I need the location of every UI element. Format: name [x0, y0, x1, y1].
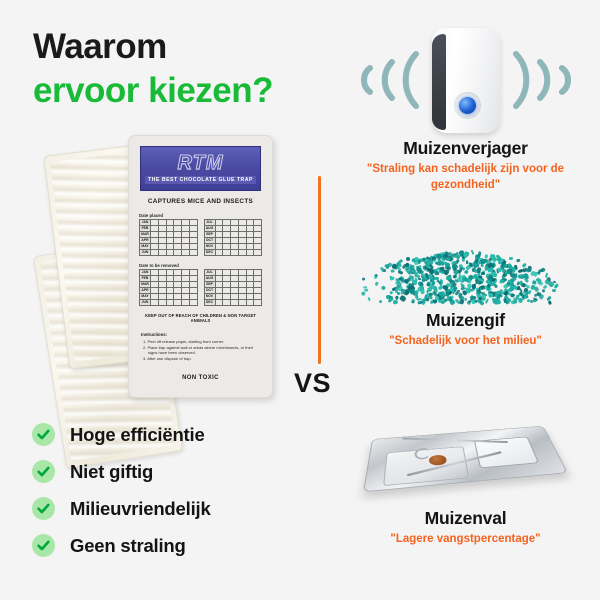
benefits-list: Hoge efficiëntieNiet giftigMilieuvriende…: [32, 416, 211, 564]
date-cell[interactable]: [174, 300, 182, 306]
sound-wave-right-icon: [504, 36, 586, 124]
poison-pellet: [381, 285, 386, 290]
date-removed-label: Date to be removed: [139, 263, 265, 268]
date-cell[interactable]: [151, 250, 159, 256]
month-label: JUN: [140, 250, 151, 256]
date-cell[interactable]: [158, 300, 166, 306]
date-cell[interactable]: [151, 300, 159, 306]
poison-pellet: [414, 277, 418, 281]
poison-pellet: [379, 266, 384, 272]
brand-tagline: THE BEST CHOCOLATE GLUE TRAP: [145, 176, 256, 184]
date-cell[interactable]: [166, 300, 174, 306]
poison-pellet: [548, 300, 552, 304]
poison-pellet: [361, 278, 365, 282]
date-cell[interactable]: [223, 300, 231, 306]
comparison-quote: "Straling kan schadelijk zijn voor de ge…: [333, 162, 598, 193]
benefit-item: Niet giftig: [32, 453, 211, 490]
month-label: MAR: [140, 232, 151, 238]
date-removed-tables: JANFEBMARAPRMAYJUN JULAUGSEPOCTNOVDEC: [139, 269, 262, 306]
benefit-label: Geen straling: [70, 535, 186, 557]
poison-pellet: [539, 294, 545, 300]
infographic-canvas: Waarom ervoor kiezen? RTM THE BEST CHOCO…: [0, 0, 600, 600]
benefit-label: Hoge efficiëntie: [70, 424, 205, 446]
date-cell[interactable]: [189, 250, 197, 256]
comparison-item-repeller: Muizenverjager "Straling kan schadelijk …: [333, 20, 598, 193]
page-title: Waarom ervoor kiezen?: [33, 25, 353, 113]
poison-pellet: [429, 293, 433, 296]
date-cell[interactable]: [158, 250, 166, 256]
date-cell[interactable]: [215, 250, 223, 256]
snap-trap-image: [358, 403, 573, 508]
poison-pellet: [374, 282, 378, 287]
poison-pellet: [478, 251, 482, 256]
trap-base-plate: [363, 426, 568, 493]
date-cell[interactable]: [182, 300, 190, 306]
instruction-step: 2. Place trap against wall or areas wher…: [143, 345, 259, 356]
poison-pellet: [472, 284, 476, 289]
date-cell[interactable]: [231, 250, 239, 256]
benefit-item: Geen straling: [32, 527, 211, 564]
non-toxic-label: NON TOXIC: [136, 375, 265, 381]
poison-pellet: [397, 270, 403, 275]
comparison-title: Muizengif: [333, 310, 598, 331]
date-cell[interactable]: [246, 250, 254, 256]
repeller-led-ring: [454, 92, 481, 119]
date-cell[interactable]: [238, 250, 246, 256]
poison-pellet: [455, 254, 458, 257]
title-line-2: ervoor kiezen?: [33, 69, 353, 113]
poison-pellet: [497, 294, 501, 299]
benefit-item: Hoge efficiëntie: [32, 416, 211, 453]
poison-pellet: [361, 292, 365, 296]
vs-label: VS: [294, 368, 331, 399]
date-cell[interactable]: [223, 250, 231, 256]
instructions-list: 1. Peel off release paper, starting from…: [143, 339, 259, 362]
poison-pellet: [432, 299, 437, 304]
check-icon: [32, 460, 55, 483]
comparison-title: Muizenval: [333, 508, 598, 529]
repeller-led-indicator: [459, 97, 476, 114]
month-label: JUN: [140, 300, 151, 306]
poison-pellet: [367, 296, 371, 301]
poison-pellet: [471, 250, 475, 255]
poison-pellet: [537, 280, 543, 286]
title-line-1: Waarom: [33, 25, 353, 69]
poison-pellet: [421, 300, 426, 305]
poison-pellet: [406, 257, 410, 261]
brand-banner: RTM THE BEST CHOCOLATE GLUE TRAP: [140, 146, 261, 191]
date-row: DEC: [204, 250, 262, 256]
date-row: DEC: [204, 300, 262, 306]
card-subtitle: CAPTURES MICE AND INSECTS: [136, 198, 265, 205]
date-removed-table-left: JANFEBMARAPRMAYJUN: [139, 269, 198, 306]
date-cell[interactable]: [254, 250, 262, 256]
poison-pellet: [446, 266, 451, 270]
poison-pellet: [426, 297, 429, 301]
repeller-side-panel: [432, 34, 446, 130]
month-label: DEC: [204, 250, 215, 256]
comparison-quote: "Lagere vangstpercentage": [333, 532, 598, 548]
comparison-item-poison: Muizengif "Schadelijk voor het milieu": [333, 215, 598, 350]
poison-pellets-image: [348, 215, 583, 310]
poison-pellet: [527, 290, 531, 295]
poison-pellet: [390, 269, 394, 272]
poison-pellet: [474, 273, 478, 277]
date-row: JUN: [140, 300, 198, 306]
poison-pellet: [465, 260, 468, 264]
month-label: MAR: [140, 282, 151, 288]
vs-divider-line: [318, 176, 321, 364]
benefit-item: Milieuvriendelijk: [32, 490, 211, 527]
poison-pellet: [491, 271, 496, 276]
ultrasonic-repeller-image: [346, 20, 586, 138]
comparison-item-trap: Muizenval "Lagere vangstpercentage": [333, 403, 598, 548]
date-cell[interactable]: [231, 300, 239, 306]
poison-pellet: [446, 296, 450, 301]
comparison-quote: "Schadelijk voor het milieu": [333, 334, 598, 350]
brand-logo: RTM: [178, 153, 224, 173]
instructions-title: Instructions:: [141, 332, 265, 337]
instruction-step: 3. After use dispose of trap.: [143, 356, 259, 362]
date-cell[interactable]: [238, 300, 246, 306]
poison-pellet: [438, 286, 443, 291]
date-cell[interactable]: [182, 250, 190, 256]
poison-pellet: [552, 289, 556, 292]
date-cell[interactable]: [254, 300, 262, 306]
date-cell[interactable]: [189, 300, 197, 306]
poison-pellet: [378, 299, 382, 303]
poison-pellet: [519, 281, 523, 286]
date-placed-label: Date placed: [139, 213, 265, 218]
benefit-label: Milieuvriendelijk: [70, 498, 211, 520]
glue-trap-product: RTM THE BEST CHOCOLATE GLUE TRAP CAPTURE…: [40, 128, 290, 413]
safety-warning: KEEP OUT OF REACH OF CHILDREN & NON TARG…: [138, 313, 263, 323]
benefit-label: Niet giftig: [70, 461, 153, 483]
poison-pellet: [398, 277, 402, 280]
poison-pellet: [516, 258, 521, 262]
poison-pellet: [512, 293, 515, 296]
check-icon: [32, 497, 55, 520]
comparison-title: Muizenverjager: [333, 138, 598, 159]
poison-pellet: [509, 257, 513, 260]
date-placed-table-right: JULAUGSEPOCTNOVDEC: [204, 219, 263, 256]
poison-pellet: [410, 300, 414, 304]
date-placed-table-left: JANFEBMARAPRMAYJUN: [139, 219, 198, 256]
date-placed-tables: JANFEBMARAPRMAYJUN JULAUGSEPOCTNOVDEC: [139, 219, 262, 256]
date-cell[interactable]: [215, 300, 223, 306]
date-removed-table-right: JULAUGSEPOCTNOVDEC: [204, 269, 263, 306]
check-icon: [32, 423, 55, 446]
poison-pellet: [536, 272, 540, 275]
poison-pellet: [541, 289, 545, 292]
sound-wave-left-icon: [346, 36, 428, 124]
date-cell[interactable]: [174, 250, 182, 256]
check-icon: [32, 534, 55, 557]
date-row: JUN: [140, 250, 198, 256]
date-cell[interactable]: [246, 300, 254, 306]
poison-pellet: [374, 275, 377, 279]
glue-trap-card: RTM THE BEST CHOCOLATE GLUE TRAP CAPTURE…: [128, 135, 273, 398]
poison-pellet: [471, 299, 476, 305]
month-label: DEC: [204, 300, 215, 306]
poison-pellet: [385, 264, 388, 269]
date-cell[interactable]: [166, 250, 174, 256]
